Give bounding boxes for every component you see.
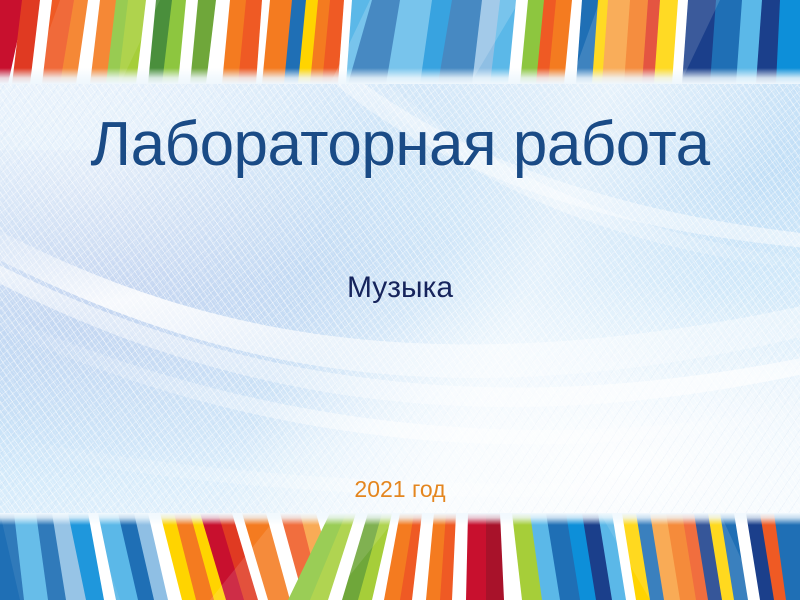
slide-year: 2021 год — [0, 476, 800, 503]
top-border-artwork — [0, 0, 800, 84]
top-decorative-border — [0, 0, 800, 84]
presentation-slide: Лабораторная работа Музыка 2021 год — [0, 0, 800, 600]
bottom-decorative-border — [0, 513, 800, 600]
bottom-border-artwork — [0, 513, 800, 600]
slide-title: Лабораторная работа — [0, 112, 800, 177]
slide-subtitle: Музыка — [0, 271, 800, 305]
